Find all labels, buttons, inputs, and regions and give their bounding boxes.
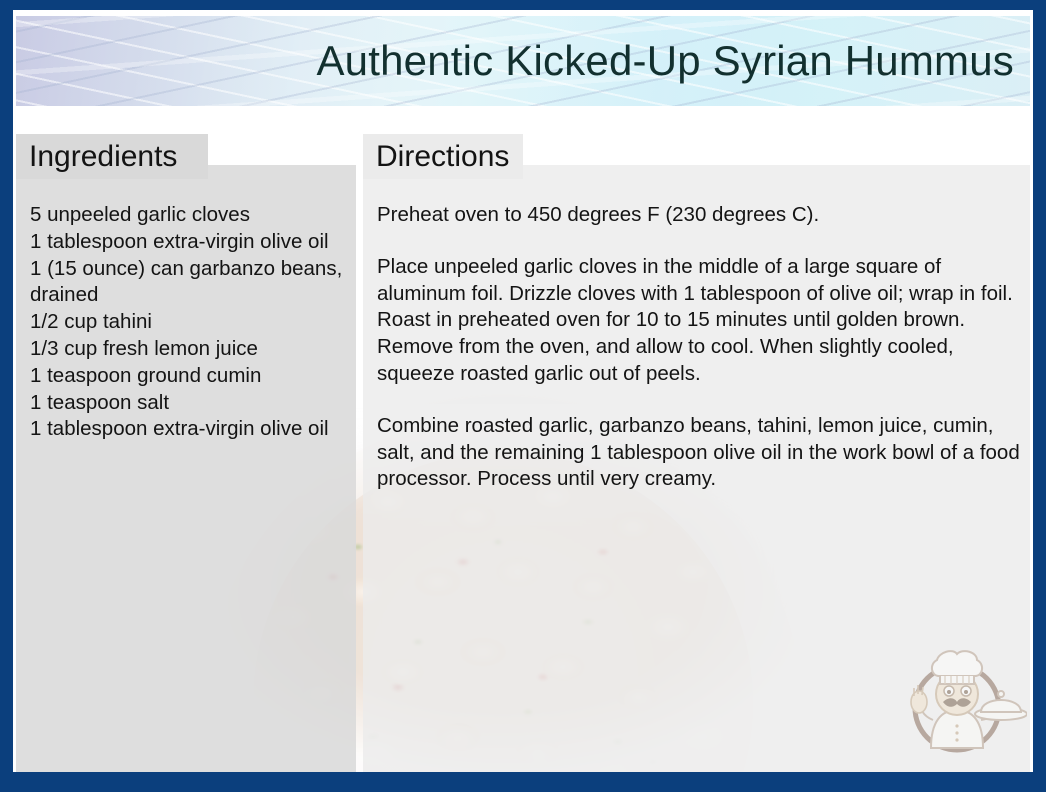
ingredient-item: 1 teaspoon salt	[30, 390, 346, 417]
ingredient-item: 1/2 cup tahini	[30, 309, 346, 336]
recipe-title: Authentic Kicked-Up Syrian Hummus	[316, 37, 1014, 85]
recipe-page: Authentic Kicked-Up Syrian Hummus Ingred…	[13, 10, 1033, 772]
directions-tab: Directions	[363, 134, 523, 179]
ingredient-item: 1 tablespoon extra-virgin olive oil	[30, 416, 346, 443]
ingredients-tab: Ingredients	[16, 134, 208, 179]
ingredient-item: 1 teaspoon ground cumin	[30, 363, 346, 390]
ingredient-item: 1/3 cup fresh lemon juice	[30, 336, 346, 363]
ingredients-list: 5 unpeeled garlic cloves 1 tablespoon ex…	[30, 202, 346, 443]
recipe-card: Authentic Kicked-Up Syrian Hummus Ingred…	[0, 0, 1046, 792]
directions-heading: Directions	[376, 142, 509, 172]
directions-list: Preheat oven to 450 degrees F (230 degre…	[377, 202, 1027, 493]
ingredient-item: 1 (15 ounce) can garbanzo beans, drained	[30, 256, 346, 310]
ingredient-item: 1 tablespoon extra-virgin olive oil	[30, 229, 346, 256]
direction-step: Place unpeeled garlic cloves in the midd…	[377, 254, 1027, 388]
direction-step: Combine roasted garlic, garbanzo beans, …	[377, 413, 1027, 493]
title-banner: Authentic Kicked-Up Syrian Hummus	[16, 16, 1030, 106]
direction-step: Preheat oven to 450 degrees F (230 degre…	[377, 202, 1027, 229]
ingredients-heading: Ingredients	[29, 142, 177, 172]
ingredient-item: 5 unpeeled garlic cloves	[30, 202, 346, 229]
